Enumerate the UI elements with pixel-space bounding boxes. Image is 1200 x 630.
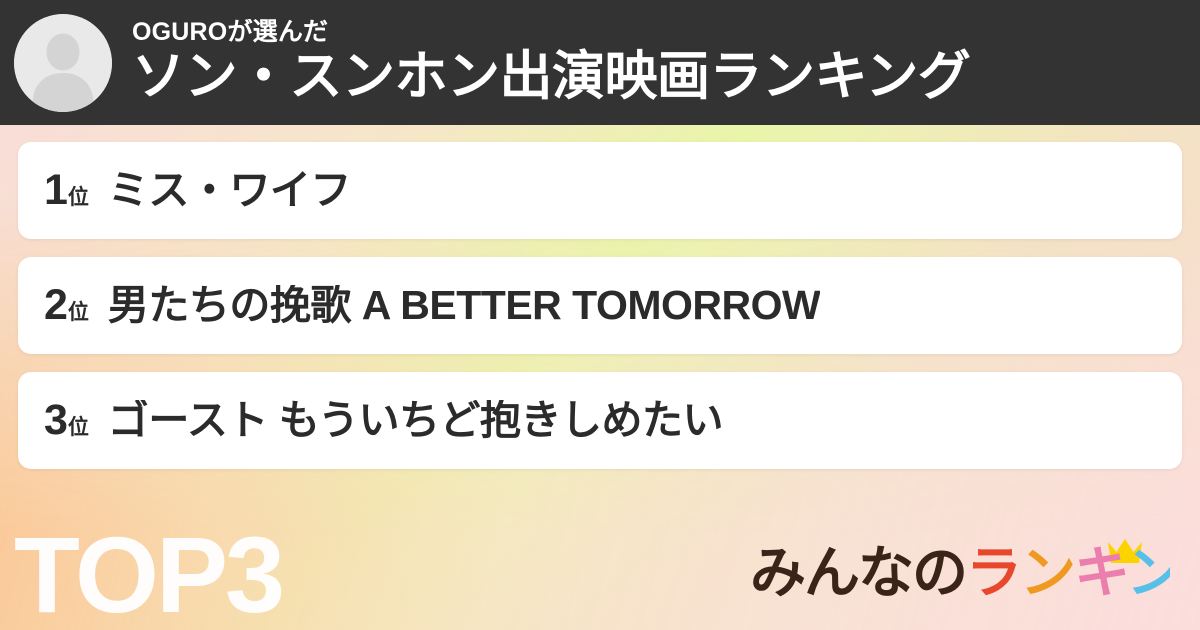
minna-no-ranking-logo-icon: みんなのランキング	[750, 536, 1170, 608]
avatar	[14, 14, 112, 112]
rank-item-title: ミス・ワイフ	[108, 170, 351, 211]
top3-watermark: TOP3	[14, 525, 282, 624]
rank-number: 2位	[44, 284, 88, 327]
table-row[interactable]: 1位 ミス・ワイフ	[18, 142, 1182, 239]
page-title: ソン・スンホン出演映画ランキング	[132, 47, 970, 106]
header-text-group: OGUROが選んだ ソン・スンホン出演映画ランキング	[132, 19, 970, 107]
ranking-list: 1位 ミス・ワイフ 2位 男たちの挽歌 A BETTER TOMORROW 3位…	[0, 125, 1200, 469]
rank-number-suffix: 位	[68, 416, 88, 439]
rank-number-suffix: 位	[68, 186, 88, 209]
rank-number-suffix: 位	[68, 301, 88, 324]
ranking-share-card: OGUROが選んだ ソン・スンホン出演映画ランキング 1位 ミス・ワイフ 2位 …	[0, 0, 1200, 630]
table-row[interactable]: 3位 ゴースト もういちど抱きしめたい	[18, 372, 1182, 469]
rank-item-title: ゴースト もういちど抱きしめたい	[108, 400, 723, 441]
rank-item-title: 男たちの挽歌 A BETTER TOMORROW	[108, 285, 820, 326]
rank-number-value: 2	[44, 281, 67, 329]
rank-number: 1位	[44, 169, 88, 212]
svg-text:みんなのランキング: みんなのランキング	[750, 541, 1170, 604]
brand-logo[interactable]: みんなのランキング	[750, 536, 1170, 608]
table-row[interactable]: 2位 男たちの挽歌 A BETTER TOMORROW	[18, 257, 1182, 354]
footer: TOP3 みんなのランキング	[0, 500, 1200, 630]
rank-number-value: 1	[44, 166, 67, 214]
user-avatar-placeholder-icon	[14, 14, 112, 112]
rank-number: 3位	[44, 399, 88, 442]
header-kicker: OGUROが選んだ	[132, 19, 970, 45]
header-bar: OGUROが選んだ ソン・スンホン出演映画ランキング	[0, 0, 1200, 125]
rank-number-value: 3	[44, 396, 67, 444]
